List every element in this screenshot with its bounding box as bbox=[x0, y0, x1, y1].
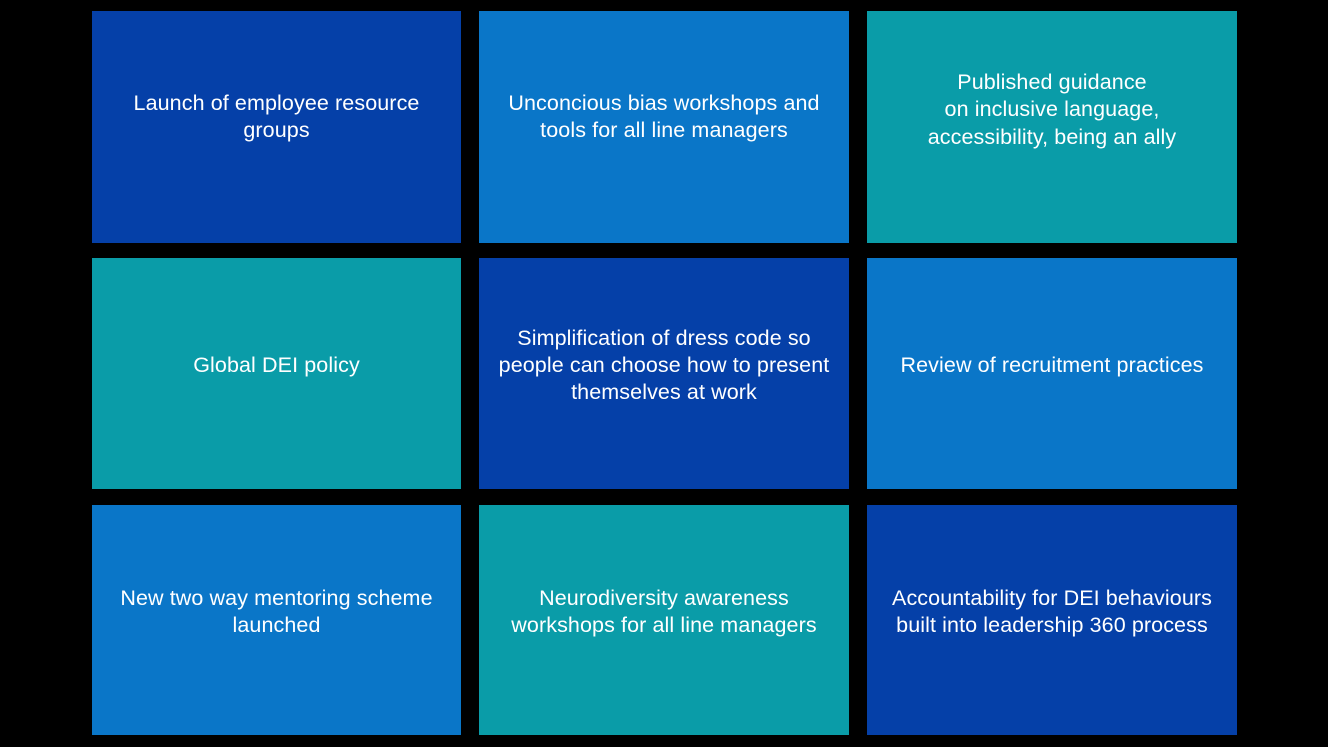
card-label: Unconcious bias workshops and tools for … bbox=[479, 90, 849, 145]
card-simplification-of-dress-code[interactable]: Simplification of dress code so people c… bbox=[479, 258, 849, 489]
dei-initiatives-grid: Launch of employee resource groups Uncon… bbox=[0, 0, 1328, 747]
card-label: Launch of employee resource groups bbox=[92, 90, 461, 145]
card-label: Published guidance on inclusive language… bbox=[867, 69, 1237, 151]
card-label: Accountability for DEI behaviours built … bbox=[867, 585, 1237, 640]
card-published-guidance[interactable]: Published guidance on inclusive language… bbox=[867, 11, 1237, 243]
card-label: Simplification of dress code so people c… bbox=[479, 325, 849, 407]
card-unconcious-bias-workshops[interactable]: Unconcious bias workshops and tools for … bbox=[479, 11, 849, 243]
card-global-dei-policy[interactable]: Global DEI policy bbox=[92, 258, 461, 489]
card-dei-accountability-leadership-360[interactable]: Accountability for DEI behaviours built … bbox=[867, 505, 1237, 735]
card-label: New two way mentoring scheme launched bbox=[92, 585, 461, 640]
card-review-of-recruitment-practices[interactable]: Review of recruitment practices bbox=[867, 258, 1237, 489]
card-label: Global DEI policy bbox=[92, 352, 461, 379]
card-employee-resource-groups[interactable]: Launch of employee resource groups bbox=[92, 11, 461, 243]
card-label: Review of recruitment practices bbox=[867, 352, 1237, 379]
card-neurodiversity-awareness-workshops[interactable]: Neurodiversity awareness workshops for a… bbox=[479, 505, 849, 735]
card-two-way-mentoring-scheme[interactable]: New two way mentoring scheme launched bbox=[92, 505, 461, 735]
card-label: Neurodiversity awareness workshops for a… bbox=[479, 585, 849, 640]
